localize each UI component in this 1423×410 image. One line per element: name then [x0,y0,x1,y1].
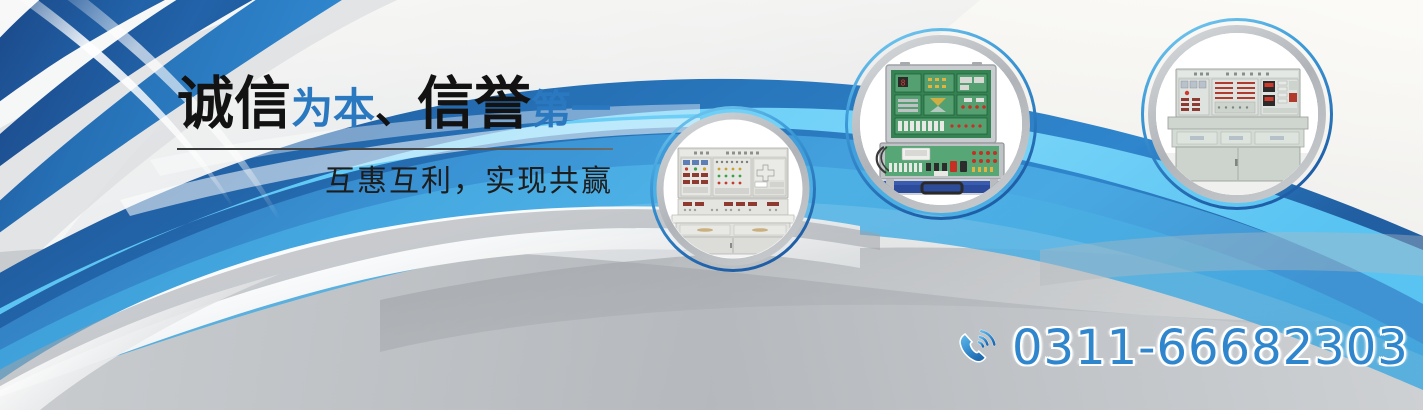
svg-text:8: 8 [901,79,906,88]
contact-phone-block[interactable]: 0311-66682303 [952,323,1409,373]
page-title: 诚信为本、信誉第一 [177,72,637,142]
headline-divider [177,148,613,150]
product-photo-1 [664,120,802,258]
headline-segment-3: 、 [375,84,417,133]
product-circle-2[interactable]: 8 [845,28,1037,220]
product-photo-2: 8 [860,43,1022,205]
phone-call-icon [952,325,998,371]
subtitle: 互惠互利，实现共赢 [177,164,613,200]
product-photo-3 [1156,33,1318,195]
phone-number[interactable]: 0311-66682303 [1012,323,1409,373]
headline-segment-2: 为本 [291,84,375,133]
promo-banner: 诚信为本、信誉第一 互惠互利，实现共赢 [0,0,1423,410]
product-circle-3[interactable] [1141,18,1333,210]
headline-segment-4: 信誉 [417,71,531,137]
electrical-training-workbench-illustration [664,120,802,258]
electric-machine-training-bench-illustration [1156,33,1318,195]
headline-segment-5: 第一 [531,87,611,133]
portable-electronics-training-case-illustration: 8 [860,43,1022,205]
headline-block: 诚信为本、信誉第一 互惠互利，实现共赢 [177,72,637,200]
headline-segment-1: 诚信 [177,71,291,137]
product-circle-1[interactable] [650,106,816,272]
